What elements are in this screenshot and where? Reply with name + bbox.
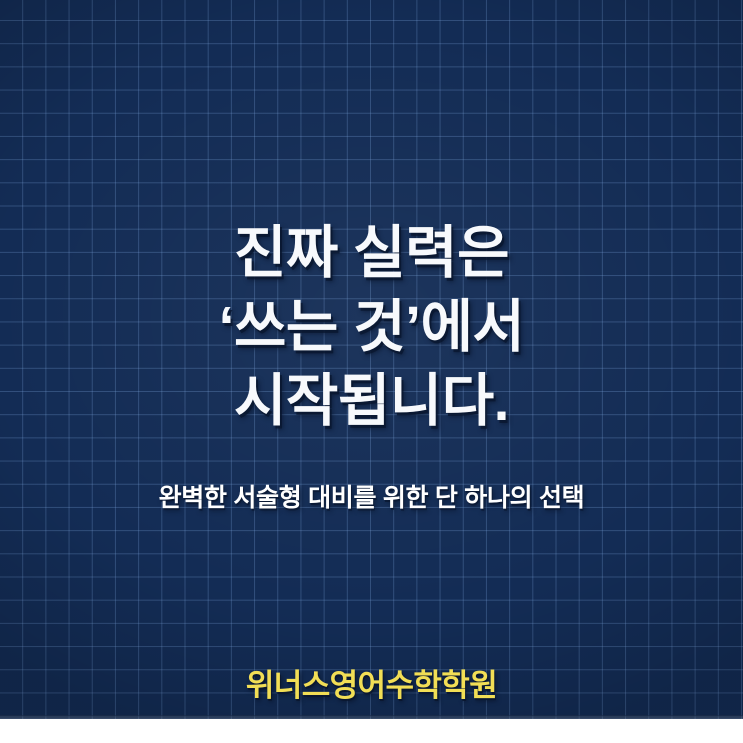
brand-name: 위너스영어수학학원 bbox=[0, 660, 743, 705]
subheadline: 완벽한 서술형 대비를 위한 단 하나의 선택 bbox=[0, 478, 743, 514]
headline-line-3: 시작됩니다. bbox=[0, 364, 743, 438]
promo-poster: 진짜 실력은 ‘쓰는 것’에서 시작됩니다. 완벽한 서술형 대비를 위한 단 … bbox=[0, 0, 743, 743]
headline-line-1: 진짜 실력은 bbox=[0, 216, 743, 290]
headline: 진짜 실력은 ‘쓰는 것’에서 시작됩니다. bbox=[0, 216, 743, 438]
poster-content: 진짜 실력은 ‘쓰는 것’에서 시작됩니다. 완벽한 서술형 대비를 위한 단 … bbox=[0, 0, 743, 743]
headline-line-2: ‘쓰는 것’에서 bbox=[0, 290, 743, 364]
